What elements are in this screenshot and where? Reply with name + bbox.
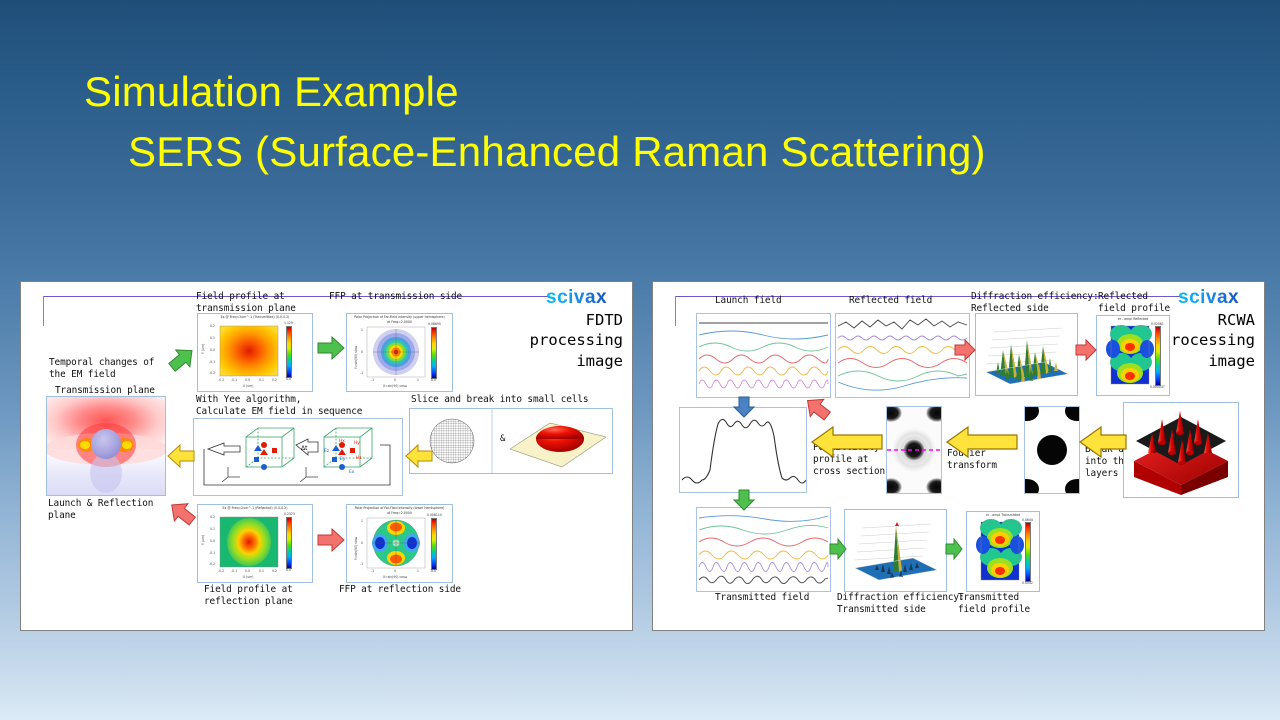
ytick-2: -1 [360,371,363,375]
xtick-2: 0.0 [245,378,250,382]
figure-title: Polar Projection of Far-Field Intensity … [347,506,452,510]
rcwa-diagram-panel: scivax RCWA processing image Launch fiel… [652,281,1265,631]
yaxis-label: Y=sin(90) sinω [354,537,358,560]
svg-text:Ey: Ey [340,456,346,462]
colorbar-min: 0.0 [431,378,436,382]
colorbar [1155,326,1161,386]
xtick-1: -0.1 [231,378,237,382]
svg-text:Δt: Δt [301,445,308,452]
figure-transmitted-field [696,507,831,592]
arrow-blue-down-launch-to-permittivity [731,396,757,418]
yee-algorithm-diagram: Δt Hx [193,418,403,496]
svg-text:Hx: Hx [339,438,345,444]
colorbar-max: 0.2323 [284,512,295,516]
arrow-green-up-right-transmission [167,344,197,374]
colorbar [431,327,437,379]
colorbar-max: 1.129 [284,321,293,325]
xtick-2: 1 [417,569,419,573]
figure-transmitted-field-profile: er - ampl Transmitted [966,511,1040,592]
caption-diffraction-transmitted: Diffraction efficiency: Transmitted side [837,592,965,616]
arrow-yellow-left-fourier-to-permittivity [811,425,883,459]
yaxis-label: Y (um) [201,535,205,545]
colorbar-max: 0.006114 [427,513,442,517]
caption-reflected-field: Reflected field [849,295,932,307]
figure-ffp-transmission: Polar Projection of Far-Field Intensity … [346,313,453,392]
arrow-yellow-left-yee-to-field [167,442,195,470]
arrow-yellow-left-structure-to-unitcell [1079,425,1127,459]
svg-text:Ez: Ez [324,448,330,454]
ytick-2: -1 [360,562,363,566]
figure-reflected-field-profile: er - ampl Reflected [1096,315,1170,396]
page-subtitle: SERS (Surface-Enhanced Raman Scattering) [128,122,1234,182]
arrow-red-right-diffraction-to-profile [1075,337,1097,363]
xtick-1: 0 [394,378,396,382]
figure-title: Ex @ Freq=2um^-1 (Transmitted) (0.0-0.2) [198,315,312,319]
xaxis-label: X (um) [243,575,254,579]
caption-ffp-reflection: FFP at reflection side [339,584,461,596]
caption-diffraction-reflected: Diffraction efficiency: Reflected side [971,291,1099,315]
ytick-4: -0.2 [209,562,215,566]
caption-reflected-field-profile: Reflected field profile [1098,291,1170,315]
xaxis-label: X=sin(90) cosω [383,575,407,579]
arrow-green-down-permittivity-to-transmitted [731,489,757,511]
ytick-4: -0.2 [209,371,215,375]
xtick-0: -0.2 [218,378,224,382]
xtick-3: 0.1 [259,569,264,573]
colorbar-min: 0.000037 [1150,385,1165,389]
scivax-logo: scivax [1178,287,1239,309]
arrow-red-right-reflected-to-diffraction [954,337,976,363]
ytick-1: 0.1 [210,527,215,531]
caption-launch-field: Launch field [715,295,782,307]
colorbar-max: 0.0644 [1022,518,1033,522]
arrow-green-right-diffraction-to-profile [945,537,963,561]
caption-slice-break: Slice and break into small cells [411,394,588,406]
caption-field-profile-reflection: Field profile at reflection plane [204,584,293,608]
colorbar-min: 0.0042 [1022,581,1033,585]
colorbar [431,518,437,570]
figure-permittivity-cross-section [679,407,807,493]
xaxis-label: X (um) [243,384,254,388]
ytick-2: 0.0 [210,348,215,352]
ytick-1: 0.1 [210,336,215,340]
xtick-2: 1 [417,378,419,382]
arrow-red-down-left-reflection [167,498,197,528]
ampersand-label: & [500,434,505,446]
caption-transmitted-field-profile: Transmitted field profile [958,592,1030,616]
figure-transmission-field-profile: Ex @ Freq=2um^-1 (Transmitted) (0.0-0.2)… [197,313,313,392]
caption-field-profile-transmission: Field profile at transmission plane [196,291,296,315]
fdtd-process-label: FDTD processing image [451,310,623,371]
page-title: Simulation Example [84,62,1234,122]
figure-reflected-field [835,313,970,398]
colorbar [286,517,292,569]
ytick-1: 0 [361,541,363,545]
svg-text:Ex: Ex [349,469,355,475]
xtick-4: 0.2 [272,378,277,382]
yaxis-label: Y=sin(90) sinω [354,346,358,369]
caption-yee-algorithm: With Yee algorithm, Calculate EM field i… [196,394,362,418]
colorbar-min: 0.0 [286,377,291,381]
arrow-red-right-ffp-reflection [317,526,345,554]
figure-title: er - ampl Reflected [1097,317,1169,321]
caption-temporal-changes: Temporal changes of the EM field [49,357,154,381]
transmission-plane-field-image [46,396,166,496]
colorbar-min: 0.0 [286,568,291,572]
colorbar-max: 0.08695 [428,322,441,326]
figure-diffraction-reflected [975,313,1078,396]
ytick-1: 0 [361,350,363,354]
arrow-yellow-left-slice-to-yee [405,442,433,470]
xtick-1: -0.1 [231,569,237,573]
figure-title: Ex @ Freq=2um^-1 (Reflected) (0.0-0.2) [198,506,312,510]
figure-ffp-reflection: Polar Projection of Far-Field Intensity … [346,504,453,583]
accent-rule-vertical [43,296,44,326]
colorbar-min: 0.0 [431,569,436,573]
arrow-green-right-transmitted-to-diffraction [829,537,847,561]
figure-launch-field [696,313,831,398]
xtick-2: 0.0 [245,569,250,573]
figure-title: er - ampl Transmitted [967,513,1039,517]
arrow-yellow-left-unitcell-to-fourier [946,425,1018,459]
figure-diffraction-transmitted [844,509,947,592]
svg-text:Hz: Hz [356,455,362,461]
ytick-3: -0.1 [209,360,215,364]
scivax-logo: scivax [546,287,607,309]
colorbar-max: 0.02061 [1151,322,1164,326]
xtick-4: 0.2 [272,569,277,573]
svg-text:Hy: Hy [354,440,360,446]
yaxis-label: Y (um) [201,344,205,354]
xtick-1: 0 [394,569,396,573]
ytick-0: 1 [361,328,363,332]
ytick-2: 0.0 [210,539,215,543]
ytick-0: 1 [361,519,363,523]
slide-title-block: Simulation Example SERS (Surface-Enhance… [84,62,1234,181]
figure-slice-mesh: & [409,408,613,474]
xtick-0: -1 [371,569,374,573]
figure-unit-cell-image [1024,406,1080,494]
caption-ffp-transmission: FFP at transmission side [329,291,462,303]
ytick-0: 0.2 [210,515,215,519]
ytick-0: 0.2 [210,324,215,328]
caption-transmitted-field: Transmitted field [715,592,809,604]
ytick-3: -0.1 [209,551,215,555]
xtick-3: 0.1 [259,378,264,382]
colorbar [1025,522,1031,582]
xtick-0: -0.2 [218,569,224,573]
arrow-red-up-left-permittivity-to-reflected [803,394,831,422]
fdtd-diagram-panel: scivax FDTD processing image Temporal ch… [20,281,633,631]
caption-launch-reflection-plane: Launch & Reflection plane [48,498,153,522]
figure-fourier-transform-image [886,406,942,494]
xtick-0: -1 [371,378,374,382]
accent-rule-vertical [675,296,676,326]
xaxis-label: X=sin(90) cosω [383,384,407,388]
figure-reflection-field-profile: Ex @ Freq=2um^-1 (Reflected) (0.0-0.2) 0… [197,504,313,583]
figure-title: Polar Projection of Far-Field Intensity … [347,315,452,319]
colorbar [286,326,292,378]
figure-3d-cone-structure [1123,402,1239,498]
arrow-red-right-launch-to-reflected [829,338,837,346]
arrow-green-right-ffp-transmission [317,334,345,362]
